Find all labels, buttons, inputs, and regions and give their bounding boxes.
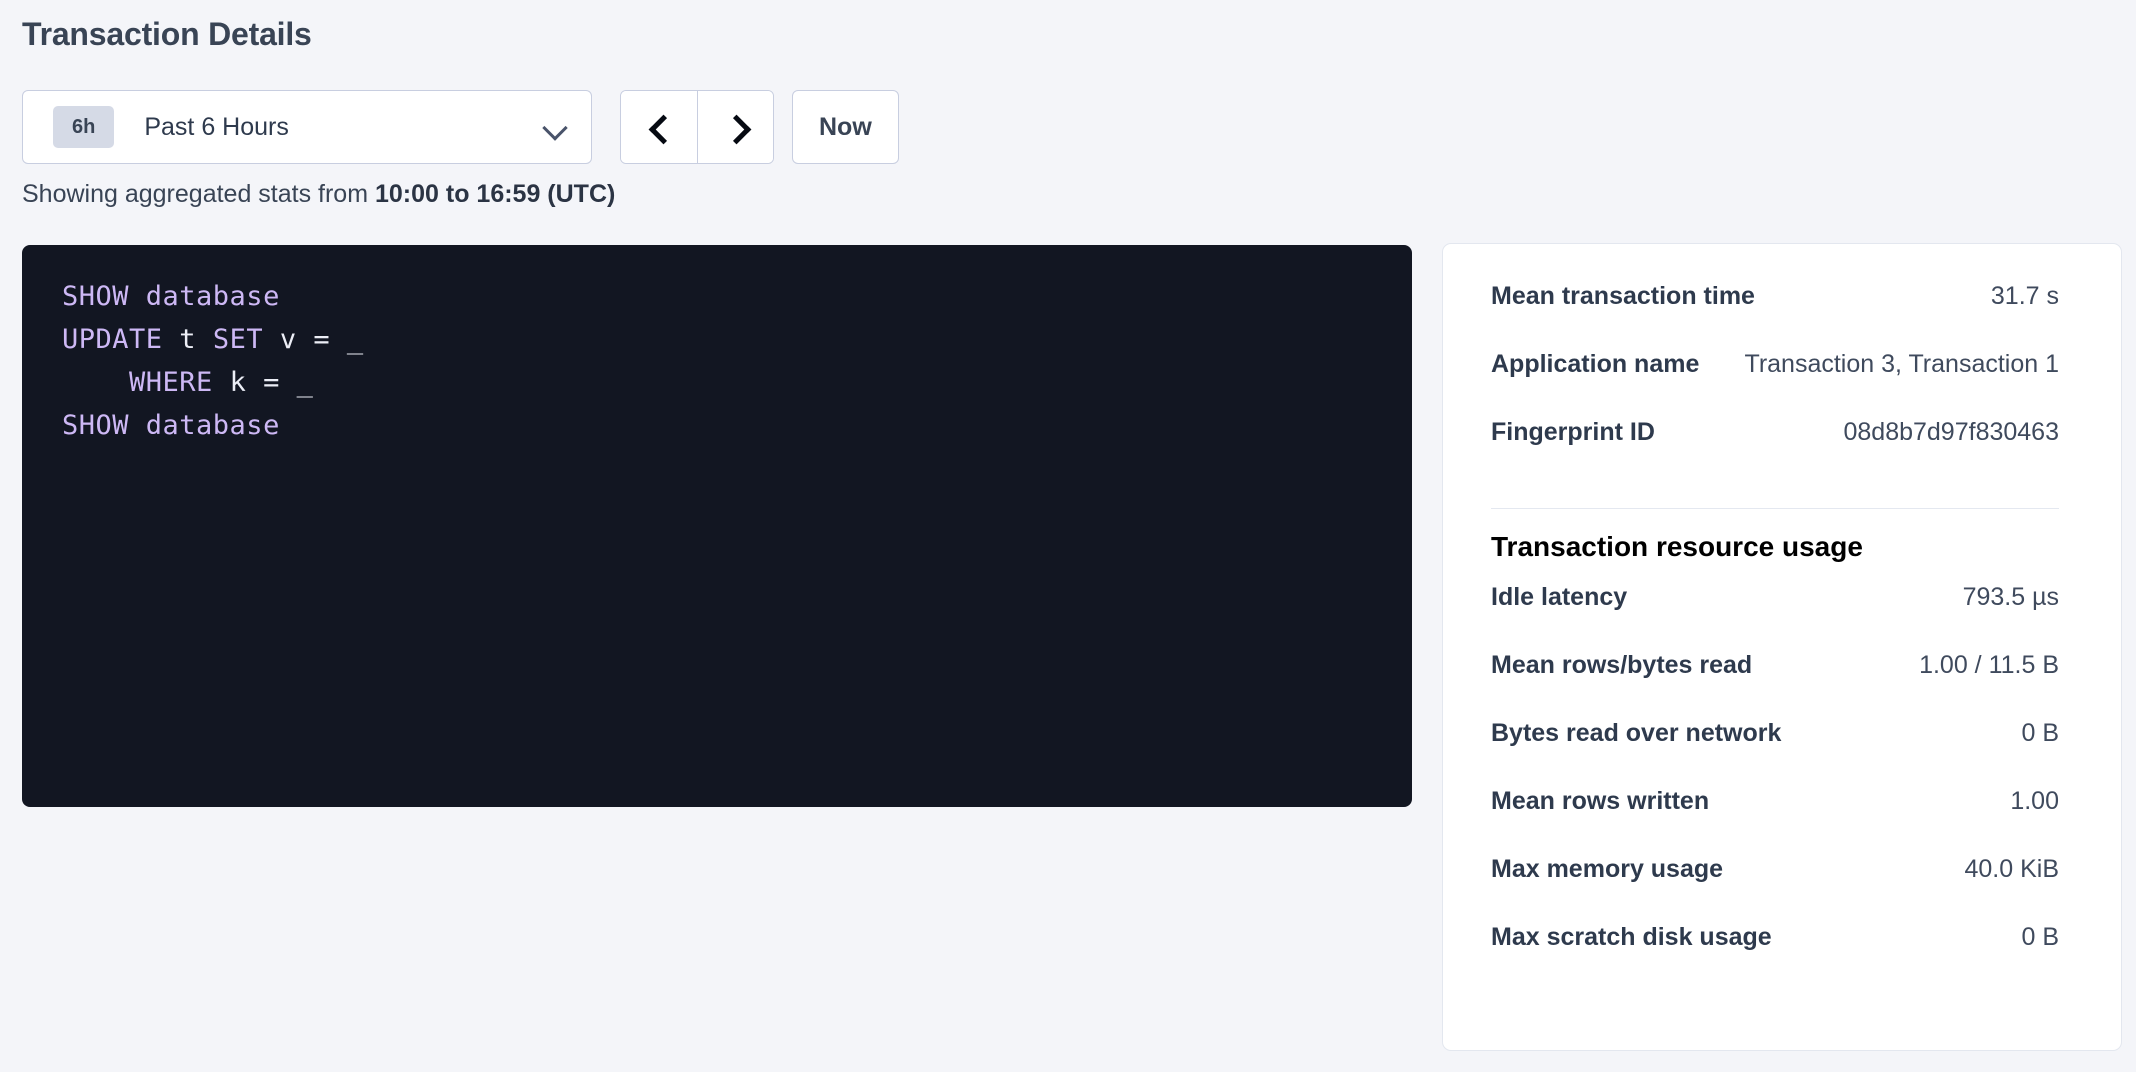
stat-value: Transaction 3, Transaction 1 [1744,350,2059,379]
transaction-detail-list: Mean transaction time31.7 sApplication n… [1491,282,2059,486]
sql-keyword: SHOW database [62,281,280,312]
stat-label: Bytes read over network [1491,719,1781,748]
sql-keyword: SET [213,324,263,355]
stat-row: Max memory usage40.0 KiB [1491,855,2059,923]
sql-keyword: WHERE [129,367,213,398]
sql-code-line: SHOW database [62,404,1372,447]
stat-label: Application name [1491,350,1699,379]
time-nav-group [620,90,774,164]
stat-value: 793.5 µs [1963,583,2059,612]
stat-row: Application nameTransaction 3, Transacti… [1491,350,2059,418]
stat-value: 40.0 KiB [1964,855,2059,884]
stat-row: Mean rows written1.00 [1491,787,2059,855]
sql-identifier: k = _ [213,367,314,398]
stat-row: Bytes read over network0 B [1491,719,2059,787]
transaction-details-page: Transaction Details 6h Past 6 Hours Now … [0,0,2136,1072]
chevron-down-icon [543,115,567,139]
chevron-right-icon [725,116,747,138]
stat-row: Idle latency793.5 µs [1491,583,2059,651]
sql-code-line: SHOW database [62,275,1372,318]
stat-label: Max memory usage [1491,855,1723,884]
previous-range-button[interactable] [621,91,697,163]
sql-keyword: UPDATE [62,324,163,355]
time-range-dropdown[interactable]: 6h Past 6 Hours [22,90,592,164]
sql-identifier: t [163,324,213,355]
stat-label: Idle latency [1491,583,1627,612]
card-divider [1491,508,2059,509]
sql-identifier [62,367,129,398]
stat-value: 1.00 / 11.5 B [1919,651,2059,680]
sql-identifier: v = _ [263,324,364,355]
next-range-button[interactable] [697,91,773,163]
stat-value: 0 B [2021,719,2059,748]
stat-row: Mean transaction time31.7 s [1491,282,2059,350]
sql-code-lines: SHOW databaseUPDATE t SET v = _ WHERE k … [62,275,1372,447]
stat-row: Fingerprint ID08d8b7d97f830463 [1491,418,2059,486]
aggregation-range-text: Showing aggregated stats from 10:00 to 1… [22,180,615,209]
stat-row: Mean rows/bytes read1.00 / 11.5 B [1491,651,2059,719]
transaction-stats-card: Mean transaction time31.7 sApplication n… [1442,243,2122,1051]
stat-label: Fingerprint ID [1491,418,1655,447]
time-range-label: Past 6 Hours [144,113,543,142]
sql-code-line: UPDATE t SET v = _ [62,318,1372,361]
sql-code-line: WHERE k = _ [62,361,1372,404]
stat-label: Mean rows written [1491,787,1709,816]
time-range-badge: 6h [53,106,114,148]
sql-keyword: SHOW database [62,410,280,441]
now-button[interactable]: Now [792,90,899,164]
stat-label: Mean transaction time [1491,282,1755,311]
stat-value: 31.7 s [1991,282,2059,311]
sql-statement-block[interactable]: SHOW databaseUPDATE t SET v = _ WHERE k … [22,245,1412,807]
stat-label: Max scratch disk usage [1491,923,1772,952]
resource-usage-title: Transaction resource usage [1491,531,2059,563]
time-range-toolbar: 6h Past 6 Hours Now [22,90,899,164]
resource-usage-list: Idle latency793.5 µsMean rows/bytes read… [1491,583,2059,991]
chevron-left-icon [648,116,670,138]
stat-value: 08d8b7d97f830463 [1843,418,2059,447]
aggregation-range-value: 10:00 to 16:59 (UTC) [375,180,615,208]
stat-value: 0 B [2021,923,2059,952]
stat-value: 1.00 [2010,787,2059,816]
stat-row: Max scratch disk usage0 B [1491,923,2059,991]
stat-label: Mean rows/bytes read [1491,651,1752,680]
aggregation-range-prefix: Showing aggregated stats from [22,180,375,208]
page-title: Transaction Details [22,16,312,53]
